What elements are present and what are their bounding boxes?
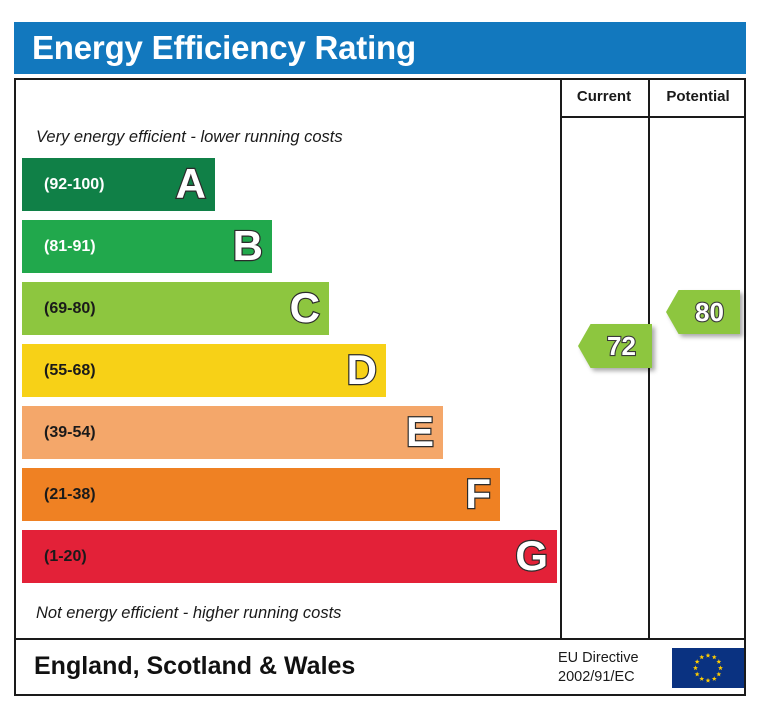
band-f: (21-38) F: [22, 468, 500, 521]
band-e: (39-54) E: [22, 406, 443, 459]
band-c: (69-80) C: [22, 282, 329, 335]
column-header-current: Current: [560, 88, 648, 105]
caption-bottom: Not energy efficient - higher running co…: [36, 604, 341, 623]
band-b-letter: B: [233, 225, 263, 267]
rating-table: Current Potential Very energy efficient …: [14, 78, 746, 640]
page-title: Energy Efficiency Rating: [32, 29, 416, 67]
current-rating-value: 72: [578, 324, 652, 368]
caption-top: Very energy efficient - lower running co…: [36, 128, 343, 147]
band-d-range: (55-68): [44, 362, 96, 380]
footer-directive-line2: 2002/91/EC: [558, 668, 666, 687]
band-g-letter: G: [515, 535, 548, 577]
chart-header-bar: Energy Efficiency Rating: [14, 22, 746, 74]
band-c-range: (69-80): [44, 300, 96, 318]
footer-directive: EU Directive 2002/91/EC: [558, 649, 666, 687]
current-rating-marker: 72: [578, 324, 652, 368]
column-divider-current: [560, 80, 562, 638]
certificate-footer: England, Scotland & Wales EU Directive 2…: [14, 640, 746, 696]
eu-flag-icon: [672, 648, 744, 688]
column-header-potential: Potential: [650, 88, 746, 105]
energy-efficiency-rating-certificate: Energy Efficiency Rating Current Potenti…: [14, 22, 746, 696]
potential-rating-value: 80: [666, 290, 740, 334]
rating-bands: (92-100) A (81-91) B (69-80) C (55-68) D…: [22, 158, 556, 598]
band-b: (81-91) B: [22, 220, 272, 273]
band-d-letter: D: [347, 349, 377, 391]
band-f-letter: F: [465, 473, 491, 515]
band-f-range: (21-38): [44, 486, 96, 504]
band-b-range: (81-91): [44, 238, 96, 256]
band-e-letter: E: [406, 411, 434, 453]
column-header-divider: [560, 116, 746, 118]
footer-directive-line1: EU Directive: [558, 649, 666, 668]
band-c-letter: C: [290, 287, 320, 329]
band-a: (92-100) A: [22, 158, 215, 211]
band-g: (1-20) G: [22, 530, 557, 583]
band-d: (55-68) D: [22, 344, 386, 397]
band-e-range: (39-54): [44, 424, 96, 442]
potential-rating-marker: 80: [666, 290, 740, 334]
footer-region-label: England, Scotland & Wales: [34, 652, 355, 681]
band-a-range: (92-100): [44, 176, 104, 194]
band-g-range: (1-20): [44, 548, 87, 566]
band-a-letter: A: [176, 163, 206, 205]
